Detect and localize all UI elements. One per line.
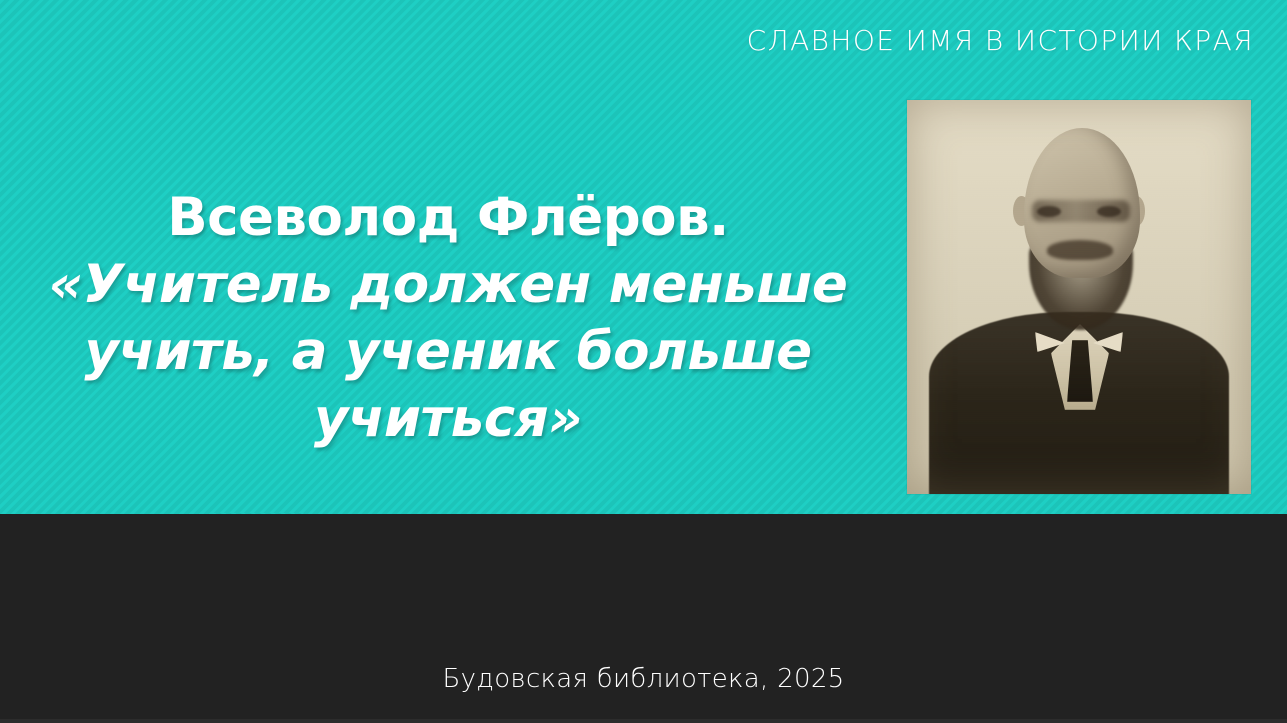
slide-canvas: СЛАВНОЕ ИМЯ В ИСТОРИИ КРАЯ Всеволод Флёр…: [0, 0, 1287, 723]
title-line-2: «Учитель должен меньше: [8, 251, 888, 318]
portrait-vignette: [907, 100, 1251, 494]
title-line-3: учить, а ученик больше: [8, 318, 888, 385]
footer-credit-text: Будовская библиотека, 2025: [0, 663, 1287, 695]
kicker-eyebrow-text: СЛАВНОЕ ИМЯ В ИСТОРИИ КРАЯ: [747, 24, 1254, 58]
bottom-edge-line: [0, 719, 1287, 723]
portrait-photo-paper: [907, 100, 1251, 494]
portrait-photo: [907, 100, 1251, 494]
title-line-4: учиться»: [8, 385, 888, 452]
title-block: Всеволод Флёров. «Учитель должен меньше …: [8, 184, 888, 452]
title-line-1: Всеволод Флёров.: [8, 184, 888, 251]
